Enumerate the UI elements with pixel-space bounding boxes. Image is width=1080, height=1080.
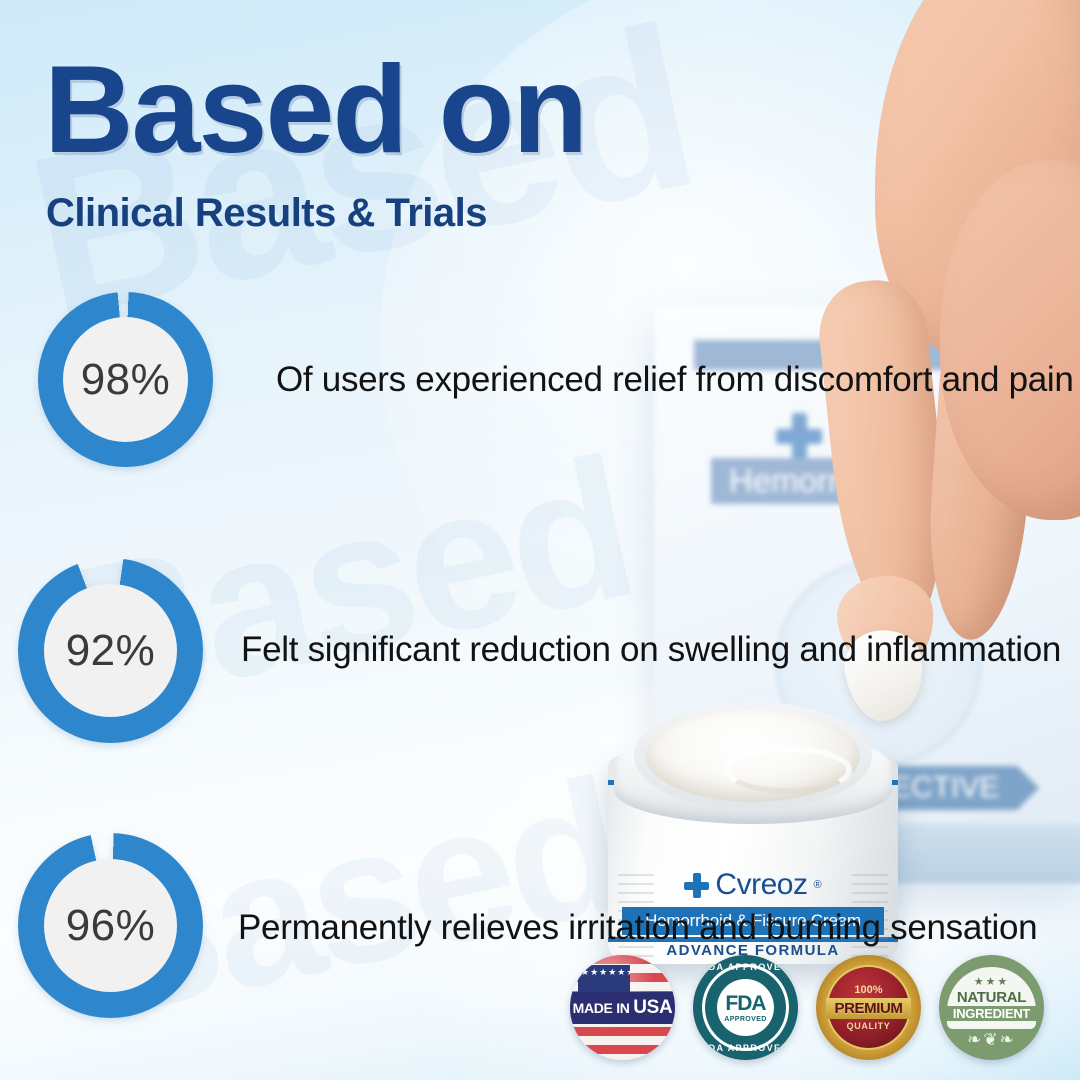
progress-ring-96: 96% bbox=[18, 833, 203, 1018]
fda-core: FDA APPROVED bbox=[717, 979, 774, 1036]
premium-quality-badge: 100% PREMIUM QUALITY bbox=[816, 955, 921, 1060]
made-in-label: MADE IN bbox=[573, 1000, 630, 1016]
ring-percent-label: 98% bbox=[81, 355, 171, 405]
fda-approved-label: APPROVED bbox=[724, 1016, 767, 1023]
quality-label: QUALITY bbox=[847, 1021, 891, 1031]
fda-approved-badge: FDA APPROVED FDA APPROVED FDA APPROVED bbox=[693, 955, 798, 1060]
natural-label: NATURAL bbox=[957, 989, 1026, 1006]
cream-swirl bbox=[724, 746, 852, 794]
stat-description: Of users experienced relief from discomf… bbox=[276, 360, 1074, 401]
stat-description: Permanently relieves irritation and burn… bbox=[238, 908, 1037, 949]
ring-percent-label: 96% bbox=[66, 901, 156, 951]
progress-ring-92: 92% bbox=[18, 558, 203, 743]
page-subtitle: Clinical Results & Trials bbox=[46, 193, 487, 233]
star-icon: ★★★ bbox=[974, 975, 1010, 988]
made-in-usa-badge: ★★★★★★★★★★★★★★★ MADE IN USA bbox=[570, 955, 675, 1060]
stat-row: 92% Felt significant reduction on swelli… bbox=[18, 558, 1061, 743]
natural-ingredient-badge: ★★★ NATURAL INGREDIENT ❧❦❧ bbox=[939, 955, 1044, 1060]
usa-label: USA bbox=[633, 997, 672, 1018]
ring-inner: 92% bbox=[44, 584, 177, 717]
fda-label: FDA bbox=[725, 992, 765, 1016]
stat-description: Felt significant reduction on swelling a… bbox=[241, 630, 1061, 671]
ring-percent-label: 92% bbox=[66, 626, 156, 676]
ring-inner: 98% bbox=[63, 317, 188, 442]
premium-inner: 100% PREMIUM QUALITY bbox=[826, 965, 911, 1050]
premium-label: PREMIUM bbox=[826, 998, 910, 1019]
advertisement-canvas: Based Based Based C Hemorrh AST EFFECTIV… bbox=[0, 0, 1080, 1080]
fda-arc-top: FDA APPROVED bbox=[693, 962, 798, 972]
premium-percent-label: 100% bbox=[854, 984, 882, 996]
stat-row: 98% Of users experienced relief from dis… bbox=[38, 292, 1074, 467]
usa-plate: MADE IN USA bbox=[570, 992, 675, 1024]
natural-cap: ★★★ NATURAL INGREDIENT bbox=[947, 967, 1036, 1029]
fda-arc-bottom: FDA APPROVED bbox=[693, 1043, 798, 1053]
ring-inner: 96% bbox=[44, 859, 177, 992]
certification-badges: ★★★★★★★★★★★★★★★ MADE IN USA FDA APPROVED… bbox=[570, 955, 1044, 1060]
ingredient-label: INGREDIENT bbox=[947, 1006, 1036, 1021]
page-title: Based on bbox=[44, 48, 586, 172]
progress-ring-98: 98% bbox=[38, 292, 213, 467]
leaf-icon: ❧❦❧ bbox=[939, 1030, 1044, 1050]
